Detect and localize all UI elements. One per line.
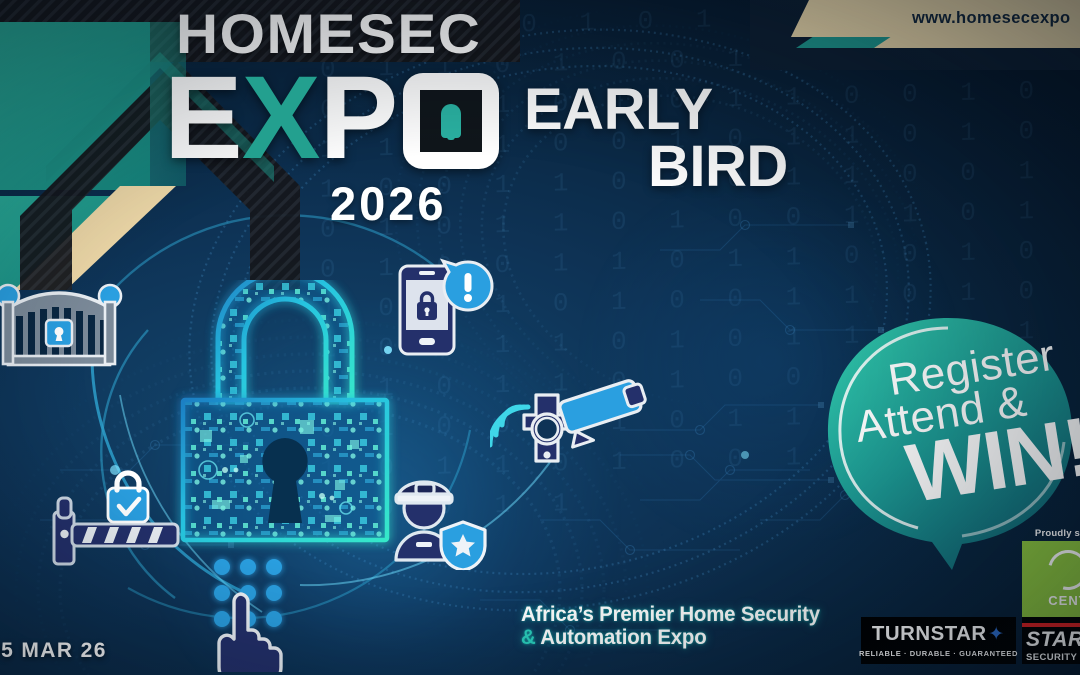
keypad-hand-icon	[198, 552, 308, 672]
boom-barrier-icon	[44, 468, 184, 568]
security-gate-icon	[0, 272, 124, 377]
sponsor-logo-star-security[interactable]: STAR SECURITY G	[1022, 617, 1080, 664]
sponsor-logo-centurion[interactable]: CENT	[1022, 541, 1080, 617]
sponsor-logo-turnstar[interactable]: TURNSTAR ✦ RELIABLE · DURABLE · GUARANTE…	[861, 617, 1016, 664]
early-bird-headline: EARLY BIRD	[524, 82, 788, 196]
security-guard-icon	[378, 460, 493, 570]
keyhole-icon-inner	[420, 90, 482, 152]
website-url-band[interactable]: www.homesecexpo	[791, 0, 1080, 37]
logo-expo-wordmark: E X P	[164, 64, 526, 172]
headline-line-early: EARLY	[524, 82, 788, 139]
turnstar-tagline: RELIABLE · DURABLE · GUARANTEED	[859, 649, 1018, 658]
star-tagline: SECURITY G	[1026, 652, 1080, 663]
bubble-line-attend: Attend &	[853, 375, 1068, 449]
keyhole-glyph	[441, 104, 461, 138]
logo-year: 2026	[330, 176, 526, 231]
proudly-sponsored-label: Proudly s	[1035, 528, 1080, 539]
event-date: 05 MAR 26	[0, 639, 107, 663]
star-red-bar	[1022, 623, 1080, 627]
turnstar-star-icon: ✦	[988, 625, 1004, 644]
event-tagline: Africa’s Premier Home Security & Automat…	[521, 603, 836, 649]
logo-letter-x: X	[242, 64, 320, 173]
centurion-swirl-icon	[1041, 543, 1080, 598]
turnstar-wordmark: TURNSTAR	[872, 623, 987, 646]
tagline-line-2: & Automation Expo	[521, 626, 820, 649]
headline-line-bird: BIRD	[648, 139, 788, 196]
tagline-line-1: Africa’s Premier Home Security	[521, 603, 820, 626]
logo-letter-e: E	[164, 64, 242, 173]
logo-letter-p: P	[319, 64, 397, 173]
bubble-text-group: Register Attend & WIN!	[826, 318, 1071, 578]
bubble-line-register: Register	[886, 334, 1061, 402]
homesec-expo-logo: HOMESEC E X P 2026	[166, 6, 526, 231]
website-url-text: www.homesecexpo	[886, 9, 1071, 28]
cctv-camera-icon	[490, 355, 670, 480]
keyhole-icon	[403, 73, 499, 169]
bubble-line-win: WIN!	[902, 412, 1079, 512]
tagline-line-2-rest: Automation Expo	[536, 625, 707, 649]
star-wordmark: STAR	[1026, 628, 1080, 652]
centurion-wordmark: CENT	[1048, 593, 1080, 608]
promo-banner: 10 1 0 0 1 0 1 1 0 0 1 0 1 0 1 1 0 1 0 0…	[0, 0, 1080, 675]
tagline-ampersand: &	[521, 625, 536, 649]
phone-lock-alert-icon	[392, 258, 502, 368]
turnstar-row: TURNSTAR ✦	[873, 623, 1004, 646]
